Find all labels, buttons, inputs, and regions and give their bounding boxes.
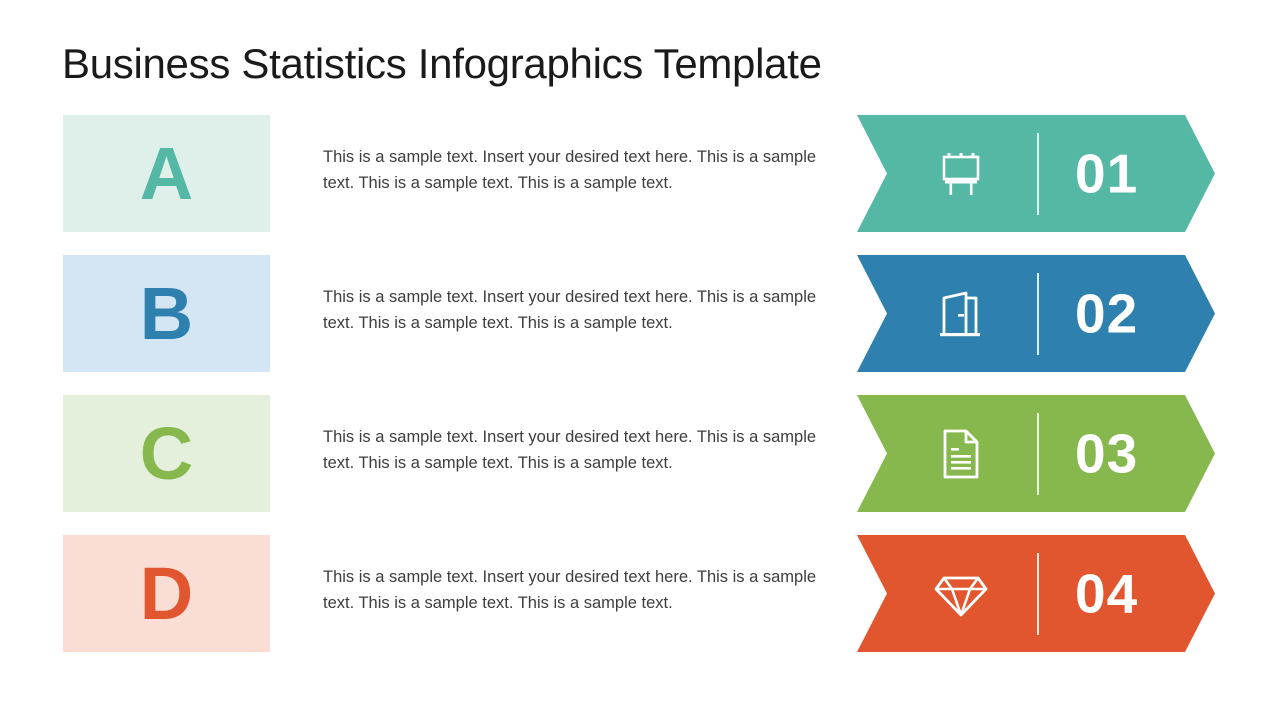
infographic-row: D This is a sample text. Insert your des… — [0, 535, 1280, 675]
letter-tile-a[interactable]: A — [63, 115, 270, 232]
banner-content: 02 — [857, 255, 1215, 372]
row-description-b: This is a sample text. Insert your desir… — [323, 285, 823, 336]
banner-content: 03 — [857, 395, 1215, 512]
banner-divider — [1037, 413, 1039, 495]
banner-content: 04 — [857, 535, 1215, 652]
chevron-banner-02[interactable]: 02 — [857, 255, 1215, 372]
chevron-banner-04[interactable]: 04 — [857, 535, 1215, 652]
banner-number-01: 01 — [1075, 146, 1138, 201]
letter-tile-label: B — [140, 277, 193, 351]
infographic-row: A This is a sample text. Insert your des… — [0, 115, 1280, 255]
banner-content: 01 — [857, 115, 1215, 232]
infographic-rows: A This is a sample text. Insert your des… — [0, 0, 1280, 720]
document-icon — [927, 423, 995, 485]
billboard-icon — [927, 143, 995, 205]
letter-tile-label: D — [140, 557, 193, 631]
banner-number-04: 04 — [1075, 566, 1138, 621]
letter-tile-b[interactable]: B — [63, 255, 270, 372]
chevron-banner-01[interactable]: 01 — [857, 115, 1215, 232]
door-icon — [927, 283, 995, 345]
row-description-a: This is a sample text. Insert your desir… — [323, 145, 823, 196]
banner-number-02: 02 — [1075, 286, 1138, 341]
infographic-row: C This is a sample text. Insert your des… — [0, 395, 1280, 535]
letter-tile-d[interactable]: D — [63, 535, 270, 652]
chevron-banner-03[interactable]: 03 — [857, 395, 1215, 512]
banner-number-03: 03 — [1075, 426, 1138, 481]
diamond-icon — [927, 563, 995, 625]
banner-divider — [1037, 553, 1039, 635]
letter-tile-c[interactable]: C — [63, 395, 270, 512]
banner-divider — [1037, 133, 1039, 215]
letter-tile-label: A — [140, 137, 193, 211]
row-description-d: This is a sample text. Insert your desir… — [323, 565, 823, 616]
banner-divider — [1037, 273, 1039, 355]
letter-tile-label: C — [140, 417, 193, 491]
row-description-c: This is a sample text. Insert your desir… — [323, 425, 823, 476]
infographic-row: B This is a sample text. Insert your des… — [0, 255, 1280, 395]
